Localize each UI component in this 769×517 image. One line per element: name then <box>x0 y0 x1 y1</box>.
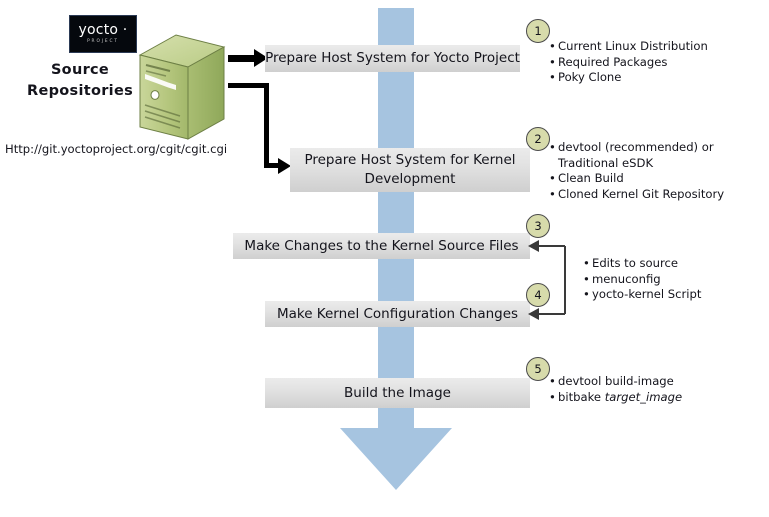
list-item-label: Poky Clone <box>558 70 764 86</box>
source-repositories-label: Source Repositories <box>18 60 142 102</box>
bullet-dot-icon: • <box>549 55 558 71</box>
list-item: •Required Packages <box>549 55 764 71</box>
flow-arrow-head <box>340 428 452 490</box>
process-box-prepare-host-kernel[interactable]: Prepare Host System for Kernel Developme… <box>290 148 530 192</box>
bullet-dot-icon: • <box>583 256 592 272</box>
list-item-label: menuconfig <box>592 272 763 288</box>
connector-source-to-step1 <box>228 55 256 62</box>
command-name: bitbake <box>558 390 605 404</box>
step-number-3: 3 <box>526 214 550 238</box>
list-item-label: devtool (recommended) or Traditional eSD… <box>558 140 764 171</box>
process-box-make-kernel-config-changes[interactable]: Make Kernel Configuration Changes <box>265 301 530 327</box>
list-item-label: yocto-kernel Script <box>592 287 763 303</box>
bracket-horizontal-step3 <box>538 245 565 247</box>
server-icon <box>136 33 228 141</box>
yocto-project-logo: yocto · PROJECT <box>69 15 137 53</box>
list-item-label: Edits to source <box>592 256 763 272</box>
arrowhead-to-step3 <box>528 240 539 252</box>
process-box-prepare-host-yocto[interactable]: Prepare Host System for Yocto Project <box>265 45 520 72</box>
bracket-vertical-steps34 <box>564 246 566 314</box>
list-item: •Clean Build <box>549 171 764 187</box>
list-item: •bitbake target_image <box>549 390 764 406</box>
list-item: •yocto-kernel Script <box>583 287 763 303</box>
list-item-label: devtool build-image <box>558 374 764 390</box>
bullet-list-steps34: •Edits to source •menuconfig •yocto-kern… <box>583 256 763 303</box>
command-argument: target_image <box>605 390 682 404</box>
bracket-horizontal-step4 <box>538 313 565 315</box>
list-item: •devtool (recommended) or Traditional eS… <box>549 140 764 171</box>
list-item: •Edits to source <box>583 256 763 272</box>
list-item-label: Required Packages <box>558 55 764 71</box>
bullet-list-step2: •devtool (recommended) or Traditional eS… <box>549 140 764 202</box>
list-item-label: bitbake target_image <box>558 390 764 406</box>
diagram-canvas: yocto · PROJECT Source Repositories Http… <box>0 0 769 517</box>
connector-source-to-step2-horizontal <box>228 83 269 88</box>
bullet-dot-icon: • <box>583 287 592 303</box>
list-item: •Poky Clone <box>549 70 764 86</box>
bullet-dot-icon: • <box>583 272 592 288</box>
step-number-1: 1 <box>526 19 550 43</box>
arrowhead-to-step4 <box>528 308 539 320</box>
bullet-dot-icon: • <box>549 39 558 55</box>
bullet-dot-icon: • <box>549 390 558 406</box>
source-repositories-url: Http://git.yoctoproject.org/cgit/cgit.cg… <box>5 142 235 156</box>
bullet-dot-icon: • <box>549 187 558 203</box>
step-number-4: 4 <box>526 283 550 307</box>
list-item: •devtool build-image <box>549 374 764 390</box>
bullet-dot-icon: • <box>549 70 558 86</box>
list-item: •Current Linux Distribution <box>549 39 764 55</box>
list-item-label: Cloned Kernel Git Repository <box>558 187 764 203</box>
connector-source-to-step2-vertical <box>264 83 269 168</box>
list-item-label: Clean Build <box>558 171 764 187</box>
step-number-5: 5 <box>526 357 550 381</box>
list-item: •menuconfig <box>583 272 763 288</box>
bullet-dot-icon: • <box>549 171 558 187</box>
logo-wordmark: yocto · <box>79 24 128 37</box>
step-number-2: 2 <box>526 127 550 151</box>
list-item-label: Current Linux Distribution <box>558 39 764 55</box>
bullet-list-step1: •Current Linux Distribution •Required Pa… <box>549 39 764 86</box>
bullet-list-step5: •devtool build-image •bitbake target_ima… <box>549 374 764 405</box>
list-item: •Cloned Kernel Git Repository <box>549 187 764 203</box>
bullet-dot-icon: • <box>549 140 558 171</box>
bullet-dot-icon: • <box>549 374 558 390</box>
process-box-make-kernel-source-changes[interactable]: Make Changes to the Kernel Source Files <box>233 233 530 259</box>
process-box-build-image[interactable]: Build the Image <box>265 378 530 408</box>
logo-subtext: PROJECT <box>87 38 119 45</box>
